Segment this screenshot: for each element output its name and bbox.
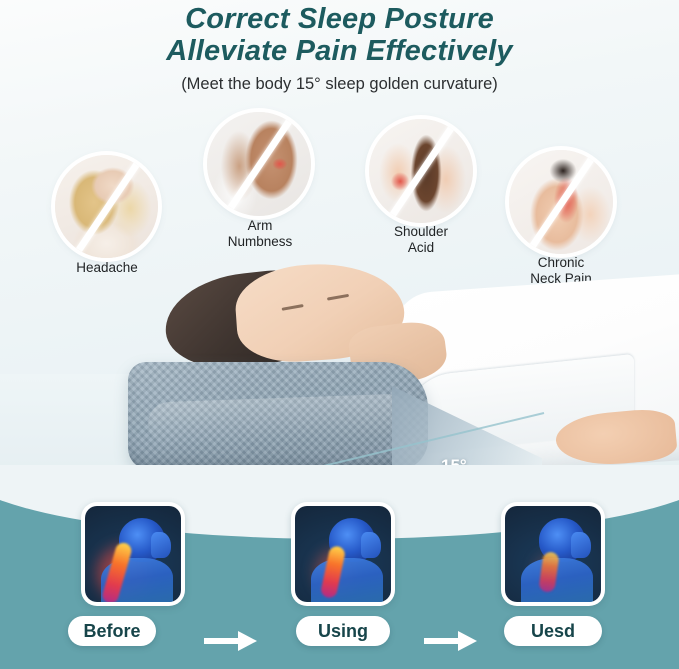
neck-xray-mild-pain-image bbox=[505, 506, 601, 602]
xray-face bbox=[571, 532, 591, 558]
model-eye-right bbox=[327, 294, 349, 301]
contour-pillow bbox=[128, 362, 428, 470]
neck-xray-moderate-pain-image bbox=[295, 506, 391, 602]
model-eye-left bbox=[282, 304, 304, 311]
symptom-circle-shoulder-acid bbox=[369, 119, 473, 223]
xray-face bbox=[361, 532, 381, 558]
step-label-using: Using bbox=[296, 616, 390, 646]
headline-line-2: Alleviate Pain Effectively bbox=[0, 35, 679, 67]
symptom-circle-arm-numbness bbox=[207, 112, 311, 216]
hero-scene: 15° bbox=[0, 262, 679, 494]
step-label-used: Uesd bbox=[504, 616, 602, 646]
comparison-panels: Before Using bbox=[0, 498, 679, 669]
comparison-panel-before[interactable] bbox=[81, 502, 185, 606]
page-subtitle: (Meet the body 15° sleep golden curvatur… bbox=[0, 75, 679, 94]
symptom-circle-chronic-neck-pain bbox=[509, 150, 613, 254]
headline-line-1: Correct Sleep Posture bbox=[0, 3, 679, 35]
comparison-panel-used[interactable] bbox=[501, 502, 605, 606]
symptom-label-shoulder-acid: Shoulder Acid bbox=[350, 224, 492, 257]
product-infographic: Correct Sleep Posture Alleviate Pain Eff… bbox=[0, 0, 679, 669]
comparison-panel-using[interactable] bbox=[291, 502, 395, 606]
page-title: Correct Sleep Posture Alleviate Pain Eff… bbox=[0, 3, 679, 68]
neck-xray-severe-pain-image bbox=[85, 506, 181, 602]
xray-torso bbox=[311, 558, 383, 602]
symptom-label-arm-numbness: Arm Numbness bbox=[189, 218, 331, 251]
arrow-right-icon bbox=[204, 630, 258, 652]
xray-face bbox=[151, 532, 171, 558]
arrow-right-icon bbox=[424, 630, 478, 652]
symptom-circle-headache bbox=[55, 155, 158, 258]
step-label-before: Before bbox=[68, 616, 156, 646]
